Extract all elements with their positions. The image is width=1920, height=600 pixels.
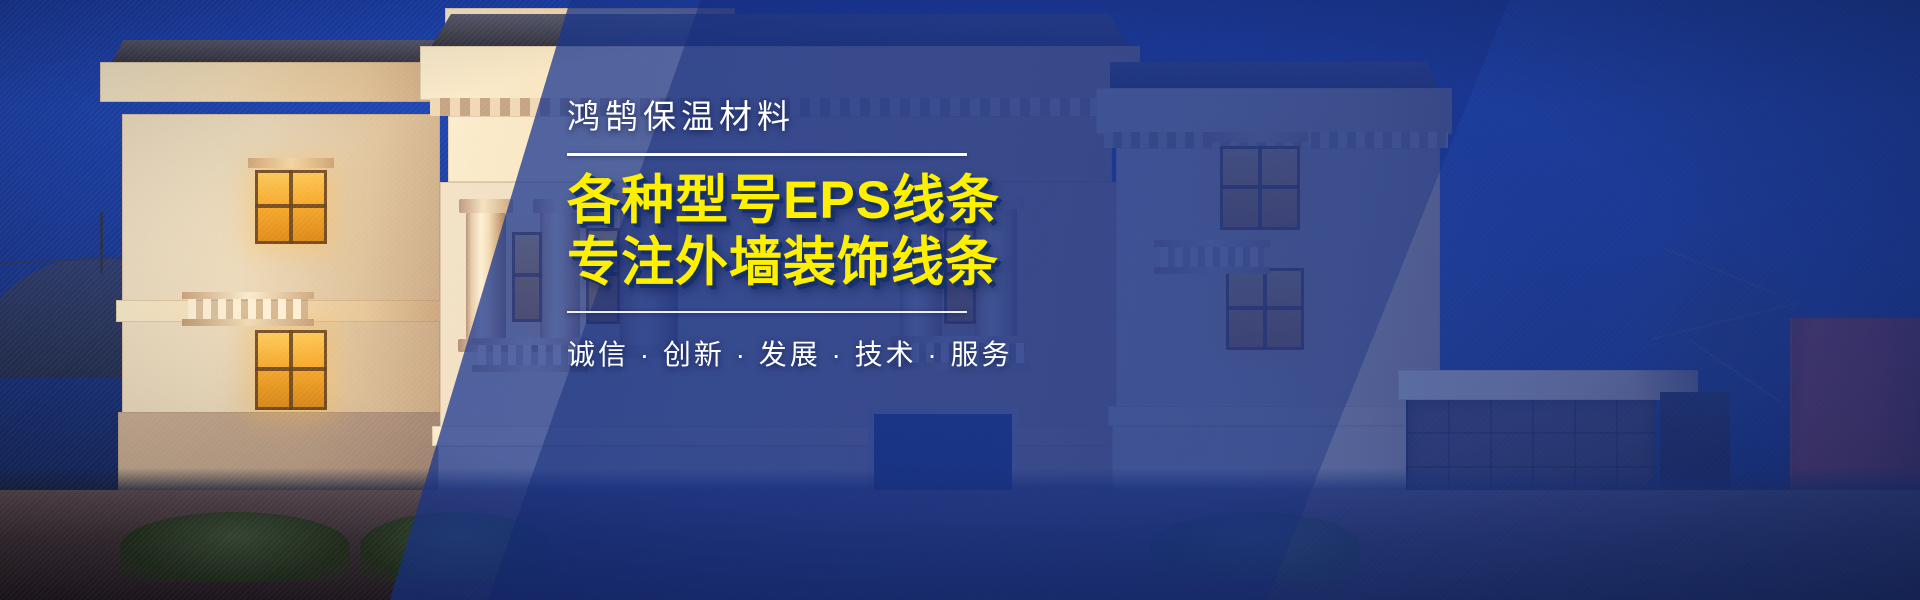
headline-line-2: 专注外墙装饰线条	[567, 232, 1037, 293]
divider-below-headline	[567, 311, 967, 313]
balustrade-rail-top	[182, 292, 314, 299]
banner-content: 鸿鹄保温材料 各种型号EPS线条 专注外墙装饰线条 诚信 · 创新 · 发展 ·…	[567, 96, 1037, 373]
balustrade-rail-bottom	[182, 319, 314, 326]
hero-banner: 鸿鹄保温材料 各种型号EPS线条 专注外墙装饰线条 诚信 · 创新 · 发展 ·…	[0, 0, 1920, 600]
headline-line-1: 各种型号EPS线条	[567, 170, 1037, 231]
window-mullion-horizontal	[255, 204, 327, 208]
hedge	[120, 512, 350, 582]
lit-window	[255, 330, 327, 410]
left-wing-cornice	[100, 62, 450, 102]
balustrade-posts	[188, 299, 308, 319]
window-hood	[248, 158, 334, 168]
balustrade	[188, 292, 308, 326]
tagline: 诚信 · 创新 · 发展 · 技术 · 服务	[567, 333, 1037, 373]
window-mullion-horizontal	[255, 367, 327, 371]
brand-name: 鸿鹄保温材料	[567, 96, 1037, 137]
lit-window	[255, 170, 327, 244]
background-mast	[100, 212, 103, 274]
divider-above-headline	[567, 153, 967, 156]
